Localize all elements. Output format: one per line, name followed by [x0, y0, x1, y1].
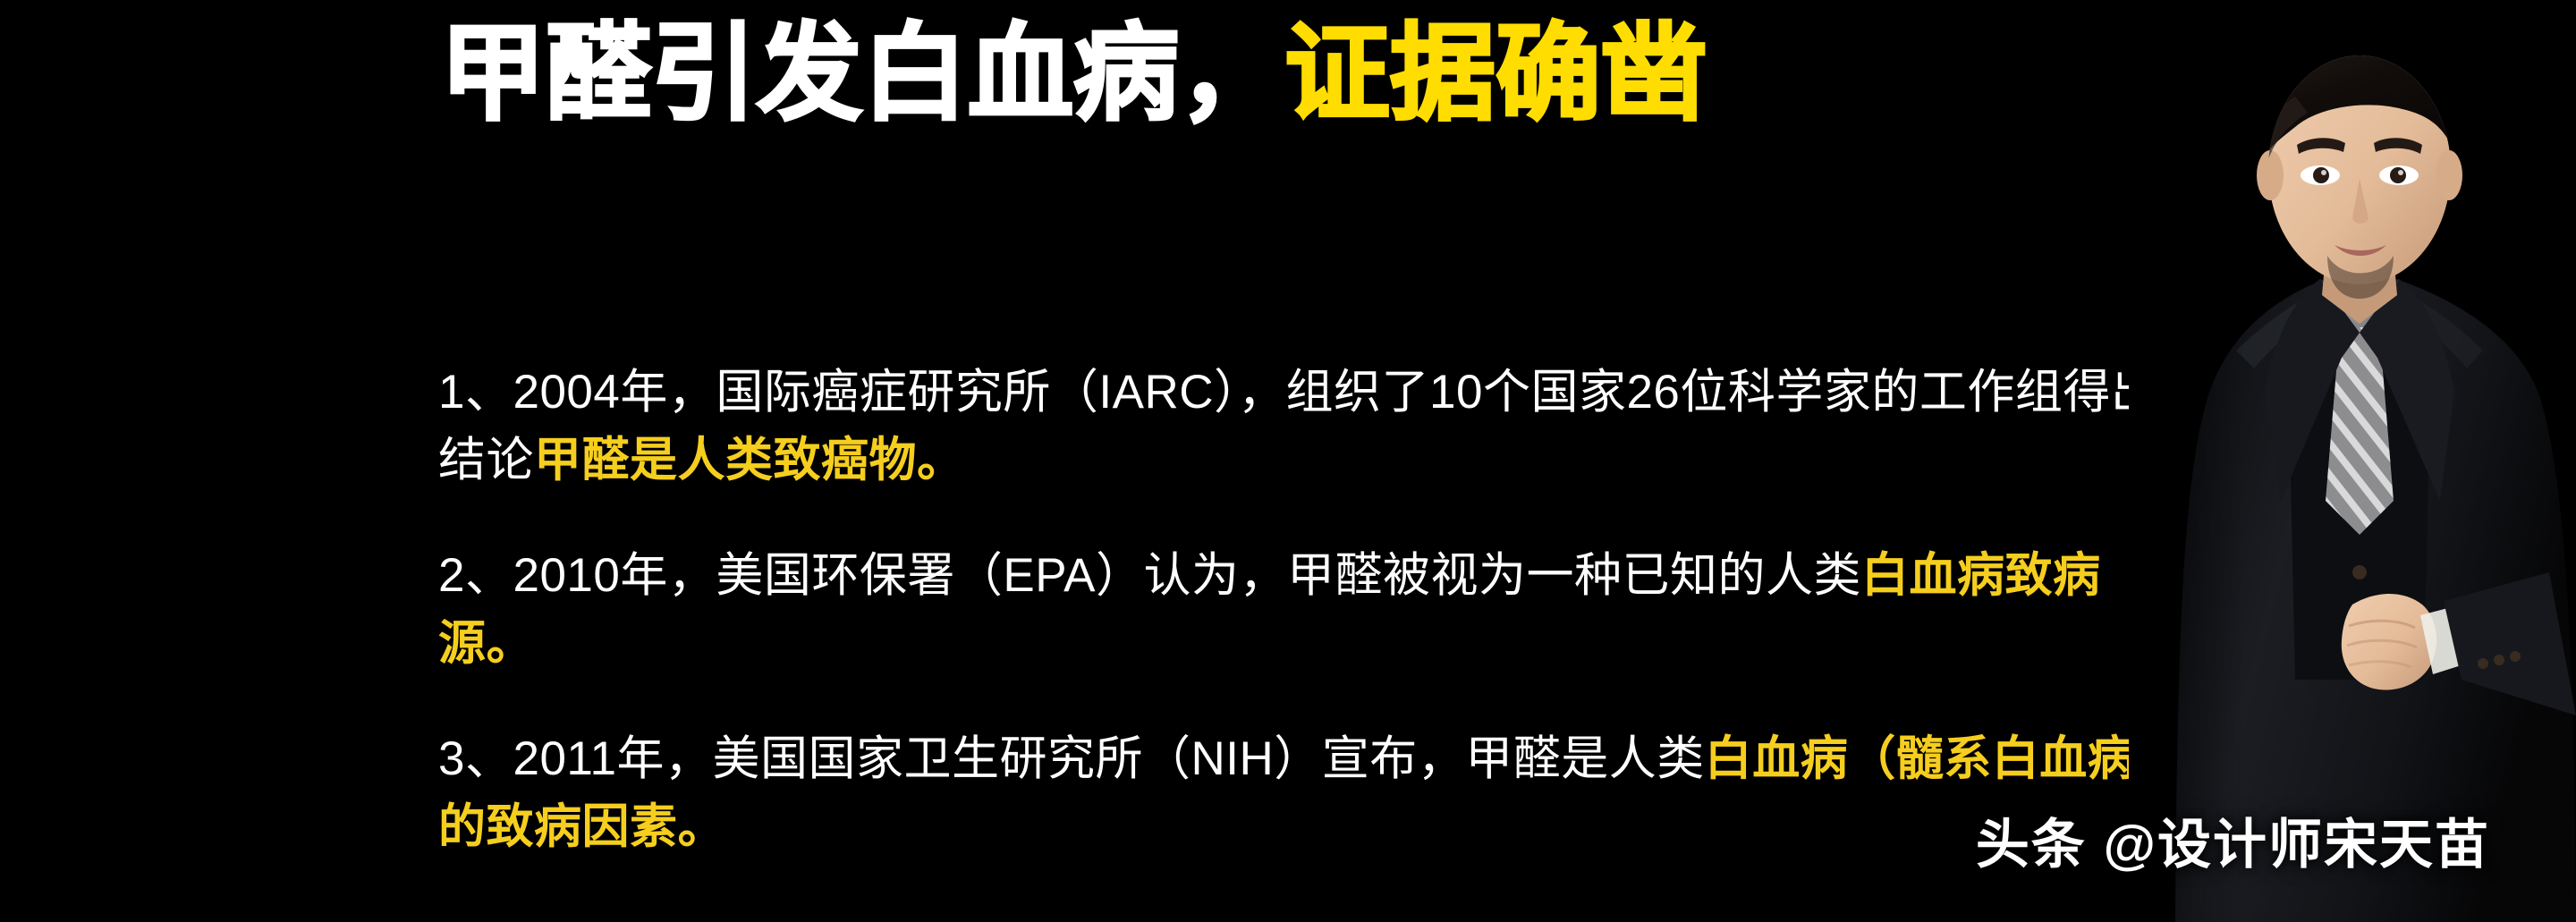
watermark-text: 头条 @设计师宋天苗 [1976, 801, 2490, 879]
page-title: 甲醛引发白血病，证据确凿 [0, 13, 2147, 137]
presenter-illustration [2129, 0, 2576, 922]
title-white-segment: 甲醛引发白血病， [440, 15, 1284, 133]
paragraph-3: 3、2011年，美国国家卫生研究所（NIH）宣布，甲醛是人类白血病（髓系白血病）… [438, 725, 2165, 861]
paragraph-3-plain: 3、2011年，美国国家卫生研究所（NIH）宣布，甲醛是人类 [438, 732, 1705, 785]
paragraph-2-plain: 2、2010年，美国环保署（EPA）认为，甲醛被视为一种已知的人类 [438, 549, 1861, 602]
paragraph-1: 1、2004年，国际癌症研究所（IARC），组织了10个国家26位科学家的工作组… [438, 359, 2165, 495]
paragraph-1-highlight: 甲醛是人类致癌物。 [534, 434, 965, 486]
body-text-block: 1、2004年，国际癌症研究所（IARC），组织了10个国家26位科学家的工作组… [438, 311, 2165, 861]
title-yellow-segment: 证据确凿 [1284, 15, 1707, 133]
presenter-photo [2129, 0, 2576, 922]
paragraph-2: 2、2010年，美国环保署（EPA）认为，甲醛被视为一种已知的人类白血病致病源。 [438, 542, 2165, 678]
slide-canvas: 甲醛引发白血病，证据确凿 1、2004年，国际癌症研究所（IARC），组织了10… [0, 0, 2576, 922]
